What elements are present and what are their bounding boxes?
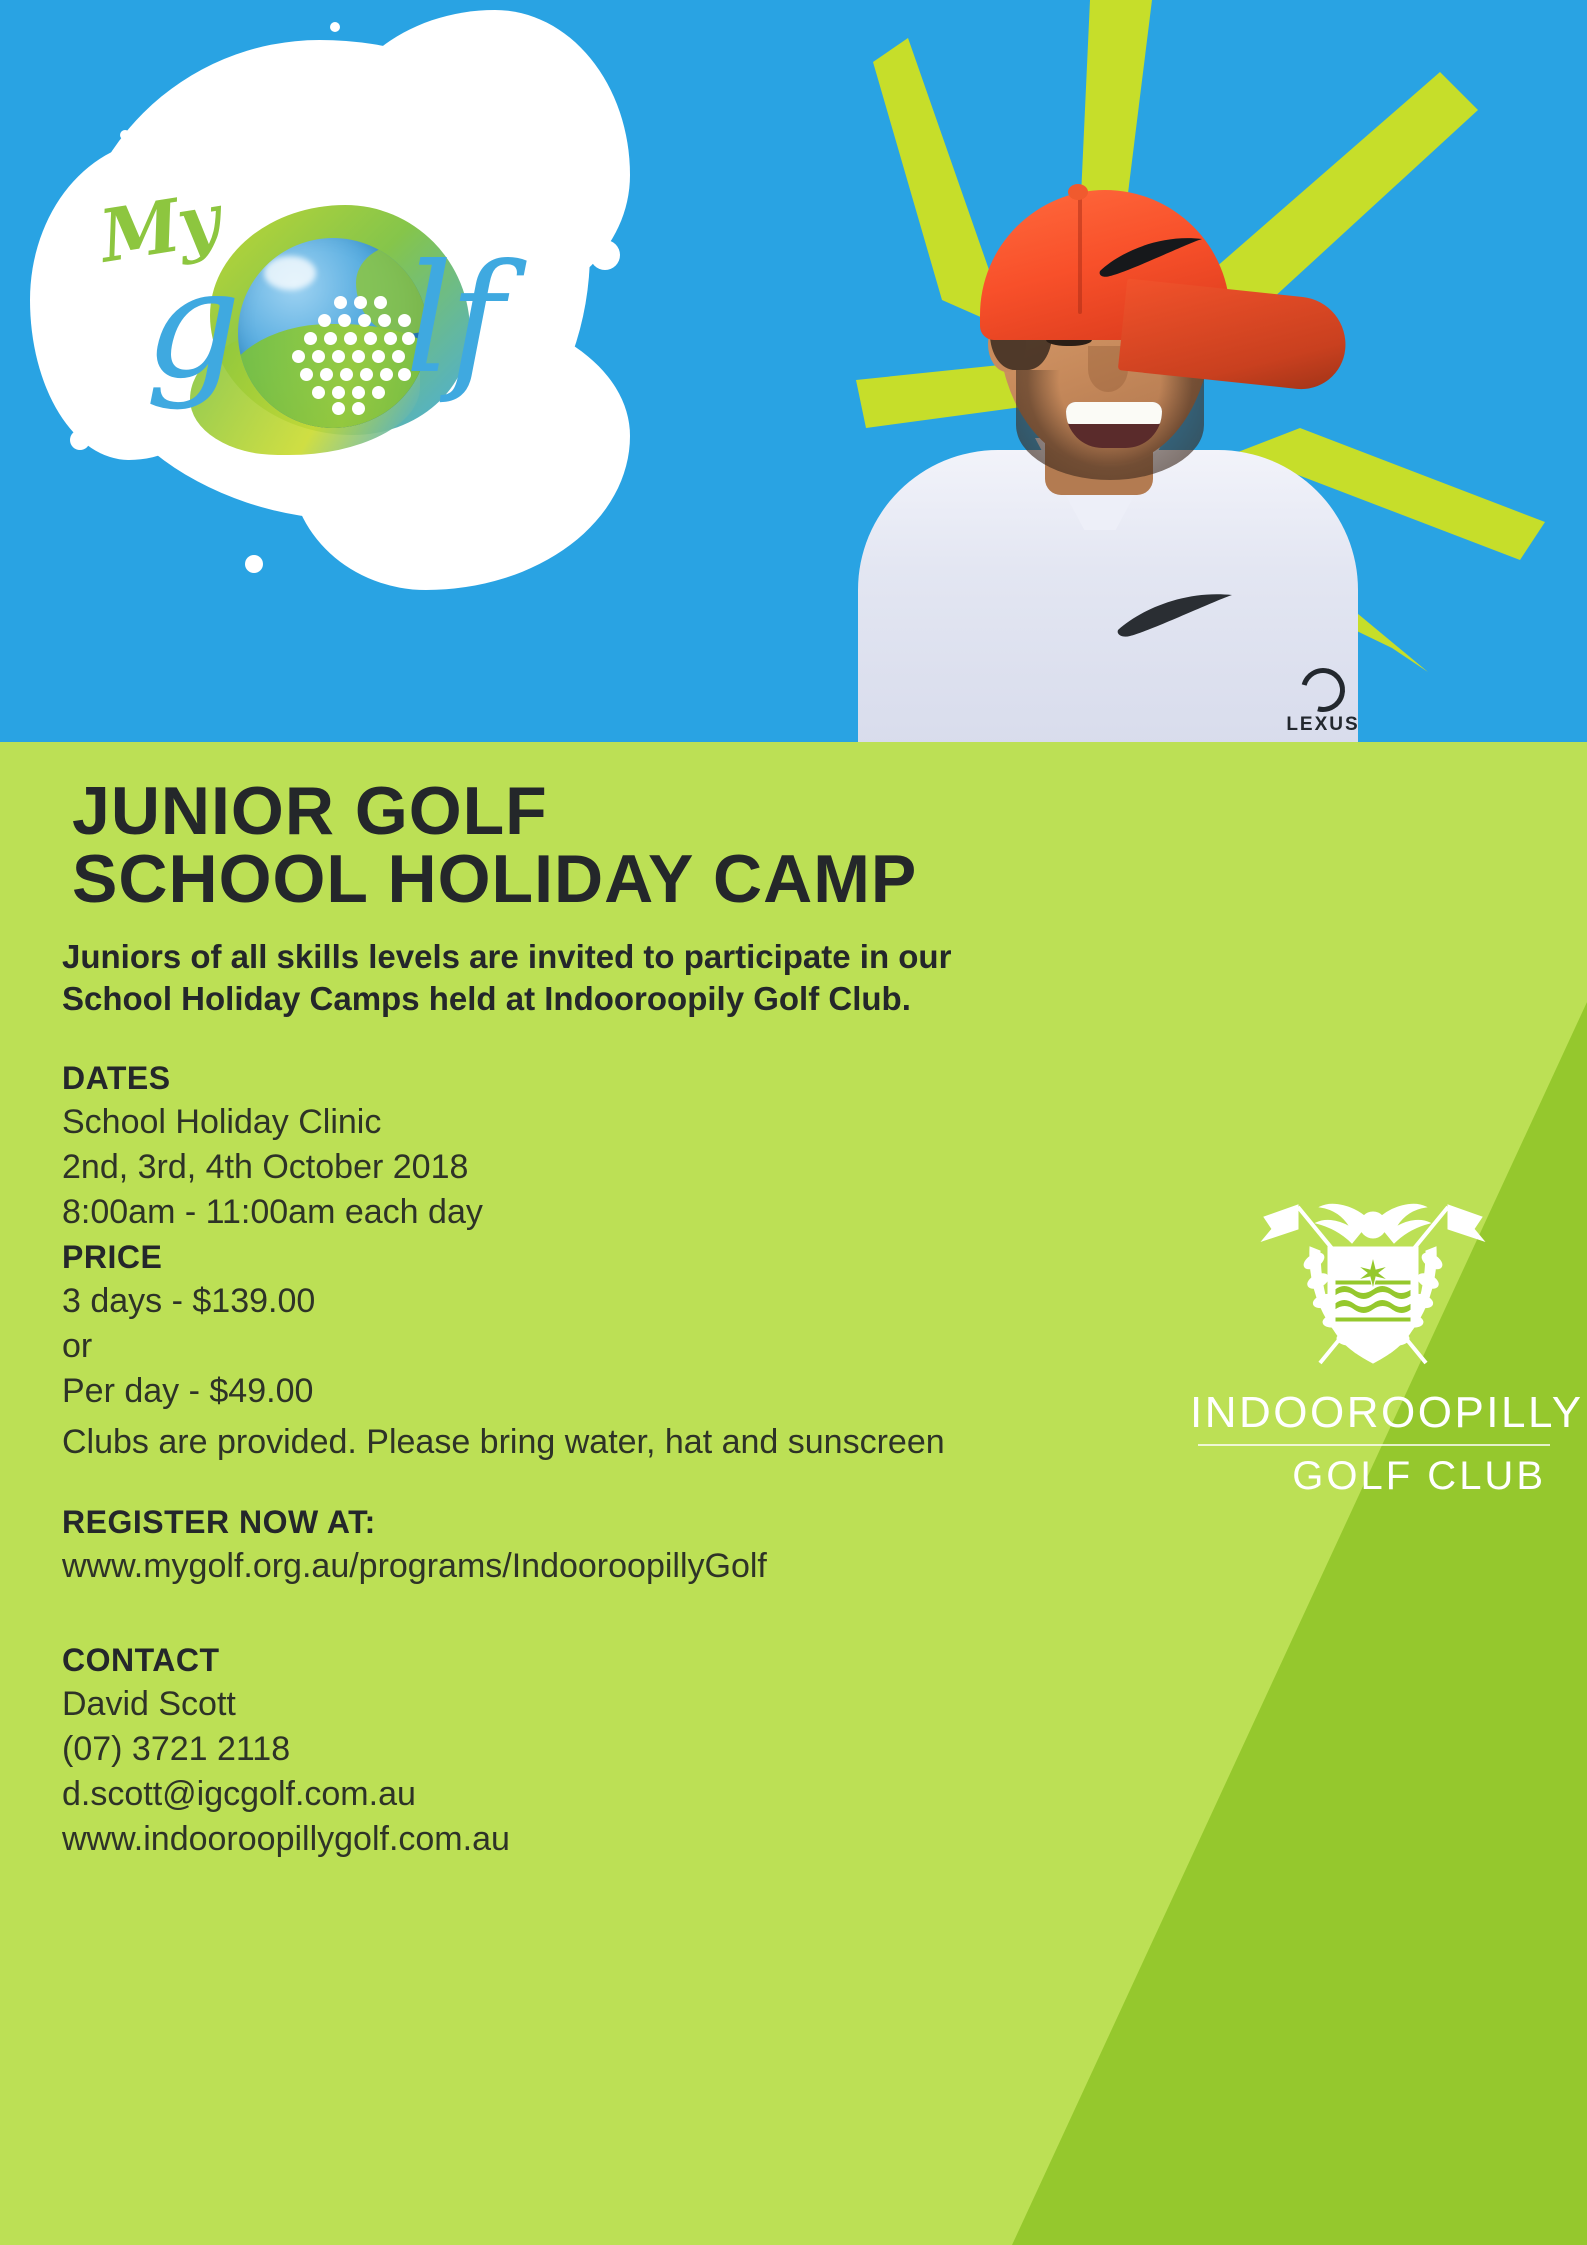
dates-line: 2nd, 3rd, 4th October 2018 <box>62 1145 483 1190</box>
contact-phone[interactable]: (07) 3721 2118 <box>62 1727 510 1772</box>
register-url[interactable]: www.mygolf.org.au/programs/Indooroopilly… <box>62 1544 767 1589</box>
price-line: 3 days - $139.00 <box>62 1279 315 1324</box>
price-section: PRICE 3 days - $139.00 or Per day - $49.… <box>62 1239 315 1414</box>
register-section: REGISTER NOW AT: www.mygolf.org.au/progr… <box>62 1504 767 1589</box>
subheading-line-2: School Holiday Camps held at Indooroopil… <box>62 980 911 1017</box>
price-line: or <box>62 1324 315 1369</box>
nike-swoosh-icon <box>1098 238 1206 278</box>
dates-line: School Holiday Clinic <box>62 1100 483 1145</box>
dates-label: DATES <box>62 1060 483 1097</box>
contact-website[interactable]: www.indooroopillygolf.com.au <box>62 1817 510 1862</box>
contact-name: David Scott <box>62 1682 510 1727</box>
nike-swoosh-icon <box>1116 594 1236 638</box>
register-label: REGISTER NOW AT: <box>62 1504 767 1541</box>
subheading-line-1: Juniors of all skills levels are invited… <box>62 938 951 975</box>
equipment-note: Clubs are provided. Please bring water, … <box>62 1420 945 1465</box>
contact-section: CONTACT David Scott (07) 3721 2118 d.sco… <box>62 1642 510 1862</box>
lexus-sponsor-logo: LEXUS <box>1268 668 1378 740</box>
title-line-2: SCHOOL HOLIDAY CAMP <box>72 845 917 913</box>
golfer-photo: LEXUS <box>830 120 1390 742</box>
dates-line: 8:00am - 11:00am each day <box>62 1190 483 1235</box>
club-name: INDOOROOPILLY <box>1190 1391 1550 1435</box>
lexus-ring-icon <box>1293 660 1353 720</box>
club-subtitle: GOLF CLUB <box>1190 1454 1550 1499</box>
golf-club-crest-icon <box>1258 1185 1488 1381</box>
price-line: Per day - $49.00 <box>62 1369 315 1414</box>
club-divider <box>1198 1444 1550 1446</box>
contact-label: CONTACT <box>62 1642 510 1679</box>
subheading: Juniors of all skills levels are invited… <box>62 936 1382 1020</box>
contact-email[interactable]: d.scott@igcgolf.com.au <box>62 1772 510 1817</box>
price-label: PRICE <box>62 1239 315 1276</box>
poster: My g lf <box>0 0 1587 2245</box>
poster-header: My g lf <box>0 0 1587 742</box>
page-title: JUNIOR GOLF SCHOOL HOLIDAY CAMP <box>72 777 917 913</box>
equipment-note-line: Clubs are provided. Please bring water, … <box>62 1420 945 1465</box>
title-line-1: JUNIOR GOLF <box>72 773 548 849</box>
indooroopilly-golf-club-logo: INDOOROOPILLY GOLF CLUB <box>1190 1185 1550 1485</box>
lexus-wordmark: LEXUS <box>1268 714 1378 736</box>
dates-section: DATES School Holiday Clinic 2nd, 3rd, 4t… <box>62 1060 483 1235</box>
